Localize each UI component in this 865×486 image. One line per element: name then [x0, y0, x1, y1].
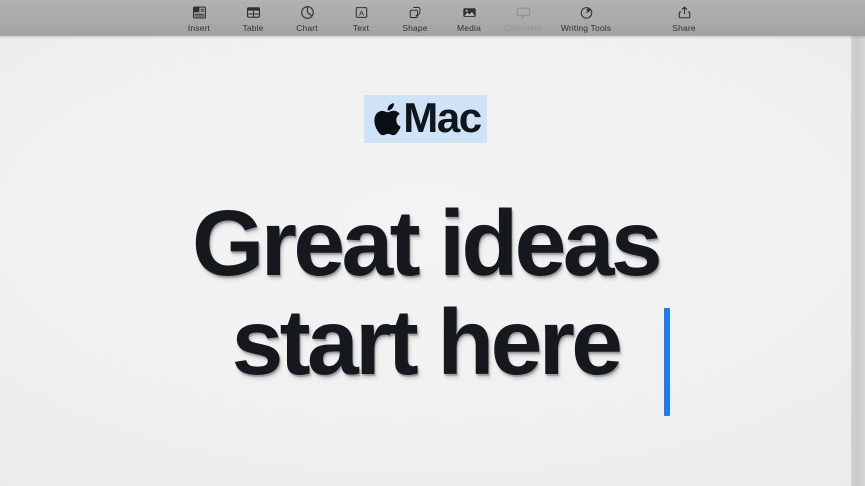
toolbar-button-writing-tools[interactable]: Writing Tools — [550, 1, 622, 33]
slide-headline[interactable]: Great ideas start here — [0, 194, 851, 392]
keynote-window: Insert Table — [0, 0, 865, 486]
shape-icon — [408, 4, 423, 21]
text-cursor-caret — [664, 308, 670, 416]
comment-icon — [516, 4, 531, 21]
brand-text-box[interactable]: Mac — [364, 95, 487, 143]
toolbar-label-comment: Comment — [504, 23, 542, 33]
toolbar-button-insert[interactable]: Insert — [172, 1, 226, 33]
slide-canvas[interactable]: Mac Great ideas start here — [0, 36, 851, 486]
toolbar-button-comment[interactable]: Comment — [496, 1, 550, 33]
toolbar-button-table[interactable]: Table — [226, 1, 280, 33]
toolbar-label-share: Share — [672, 23, 695, 33]
toolbar-button-text[interactable]: A Text — [334, 1, 388, 33]
chart-icon — [300, 4, 315, 21]
share-icon — [677, 4, 692, 21]
toolbar-label-chart: Chart — [296, 23, 318, 33]
headline-line-2: start here — [0, 293, 851, 392]
toolbar-label-table: Table — [242, 23, 263, 33]
toolbar-label-writing-tools: Writing Tools — [561, 23, 611, 33]
toolbar-button-media[interactable]: Media — [442, 1, 496, 33]
slide-content: Mac Great ideas start here — [0, 36, 851, 486]
media-icon — [462, 4, 477, 21]
brand-wordmark: Mac — [403, 97, 481, 139]
toolbar-label-shape: Shape — [402, 23, 427, 33]
toolbar-items-group: Insert Table — [172, 1, 622, 33]
toolbar-button-share[interactable]: Share — [657, 1, 711, 33]
table-icon — [246, 4, 261, 21]
toolbar-button-chart[interactable]: Chart — [280, 1, 334, 33]
svg-text:A: A — [358, 9, 363, 18]
text-box-icon: A — [354, 4, 369, 21]
apple-logo-icon — [372, 100, 402, 138]
insert-icon — [192, 4, 207, 21]
toolbar-label-media: Media — [457, 23, 481, 33]
canvas-right-margin — [851, 36, 865, 486]
toolbar-label-insert: Insert — [188, 23, 210, 33]
brand-lockup: Mac — [0, 95, 851, 143]
toolbar-button-shape[interactable]: Shape — [388, 1, 442, 33]
app-toolbar: Insert Table — [0, 0, 865, 36]
headline-line-1: Great ideas — [0, 194, 851, 293]
toolbar-label-text: Text — [353, 23, 369, 33]
writing-tools-icon — [579, 4, 594, 21]
